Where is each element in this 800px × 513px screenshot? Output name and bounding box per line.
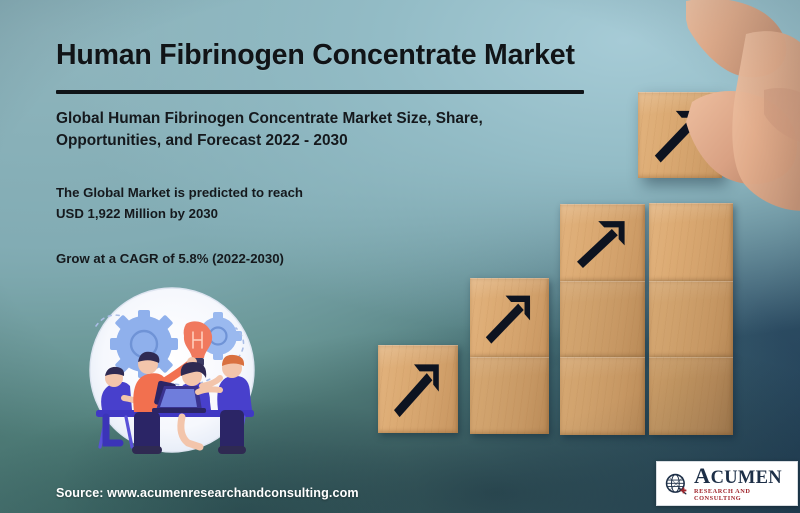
market-value-line-1: The Global Market is predicted to reach	[56, 182, 476, 203]
team-collaboration-illustration	[72, 286, 277, 466]
cagr-callout: Grow at a CAGR of 5.8% (2022-2030)	[56, 249, 476, 269]
logo-tagline: RESEARCH AND CONSULTING	[694, 489, 791, 502]
market-value-callout: The Global Market is predicted to reach …	[56, 182, 476, 225]
title-divider	[56, 90, 584, 94]
page-title: Human Fibrinogen Concentrate Market	[56, 40, 656, 72]
logo-wordmark: ACUMEN	[694, 465, 791, 488]
report-subtitle: Global Human Fibrinogen Concentrate Mark…	[56, 108, 576, 153]
logo-wordmark-capital: A	[694, 463, 711, 488]
logo-wordmark-rest: CUMEN	[711, 468, 782, 488]
globe-icon	[663, 471, 689, 497]
market-value-line-2: USD 1,922 Million by 2030	[56, 203, 476, 224]
acumen-logo[interactable]: ACUMEN RESEARCH AND CONSULTING	[656, 461, 798, 506]
source-attribution: Source: www.acumenresearchandconsulting.…	[56, 486, 359, 500]
infographic-canvas: Human Fibrinogen Concentrate Market Glob…	[0, 0, 800, 513]
